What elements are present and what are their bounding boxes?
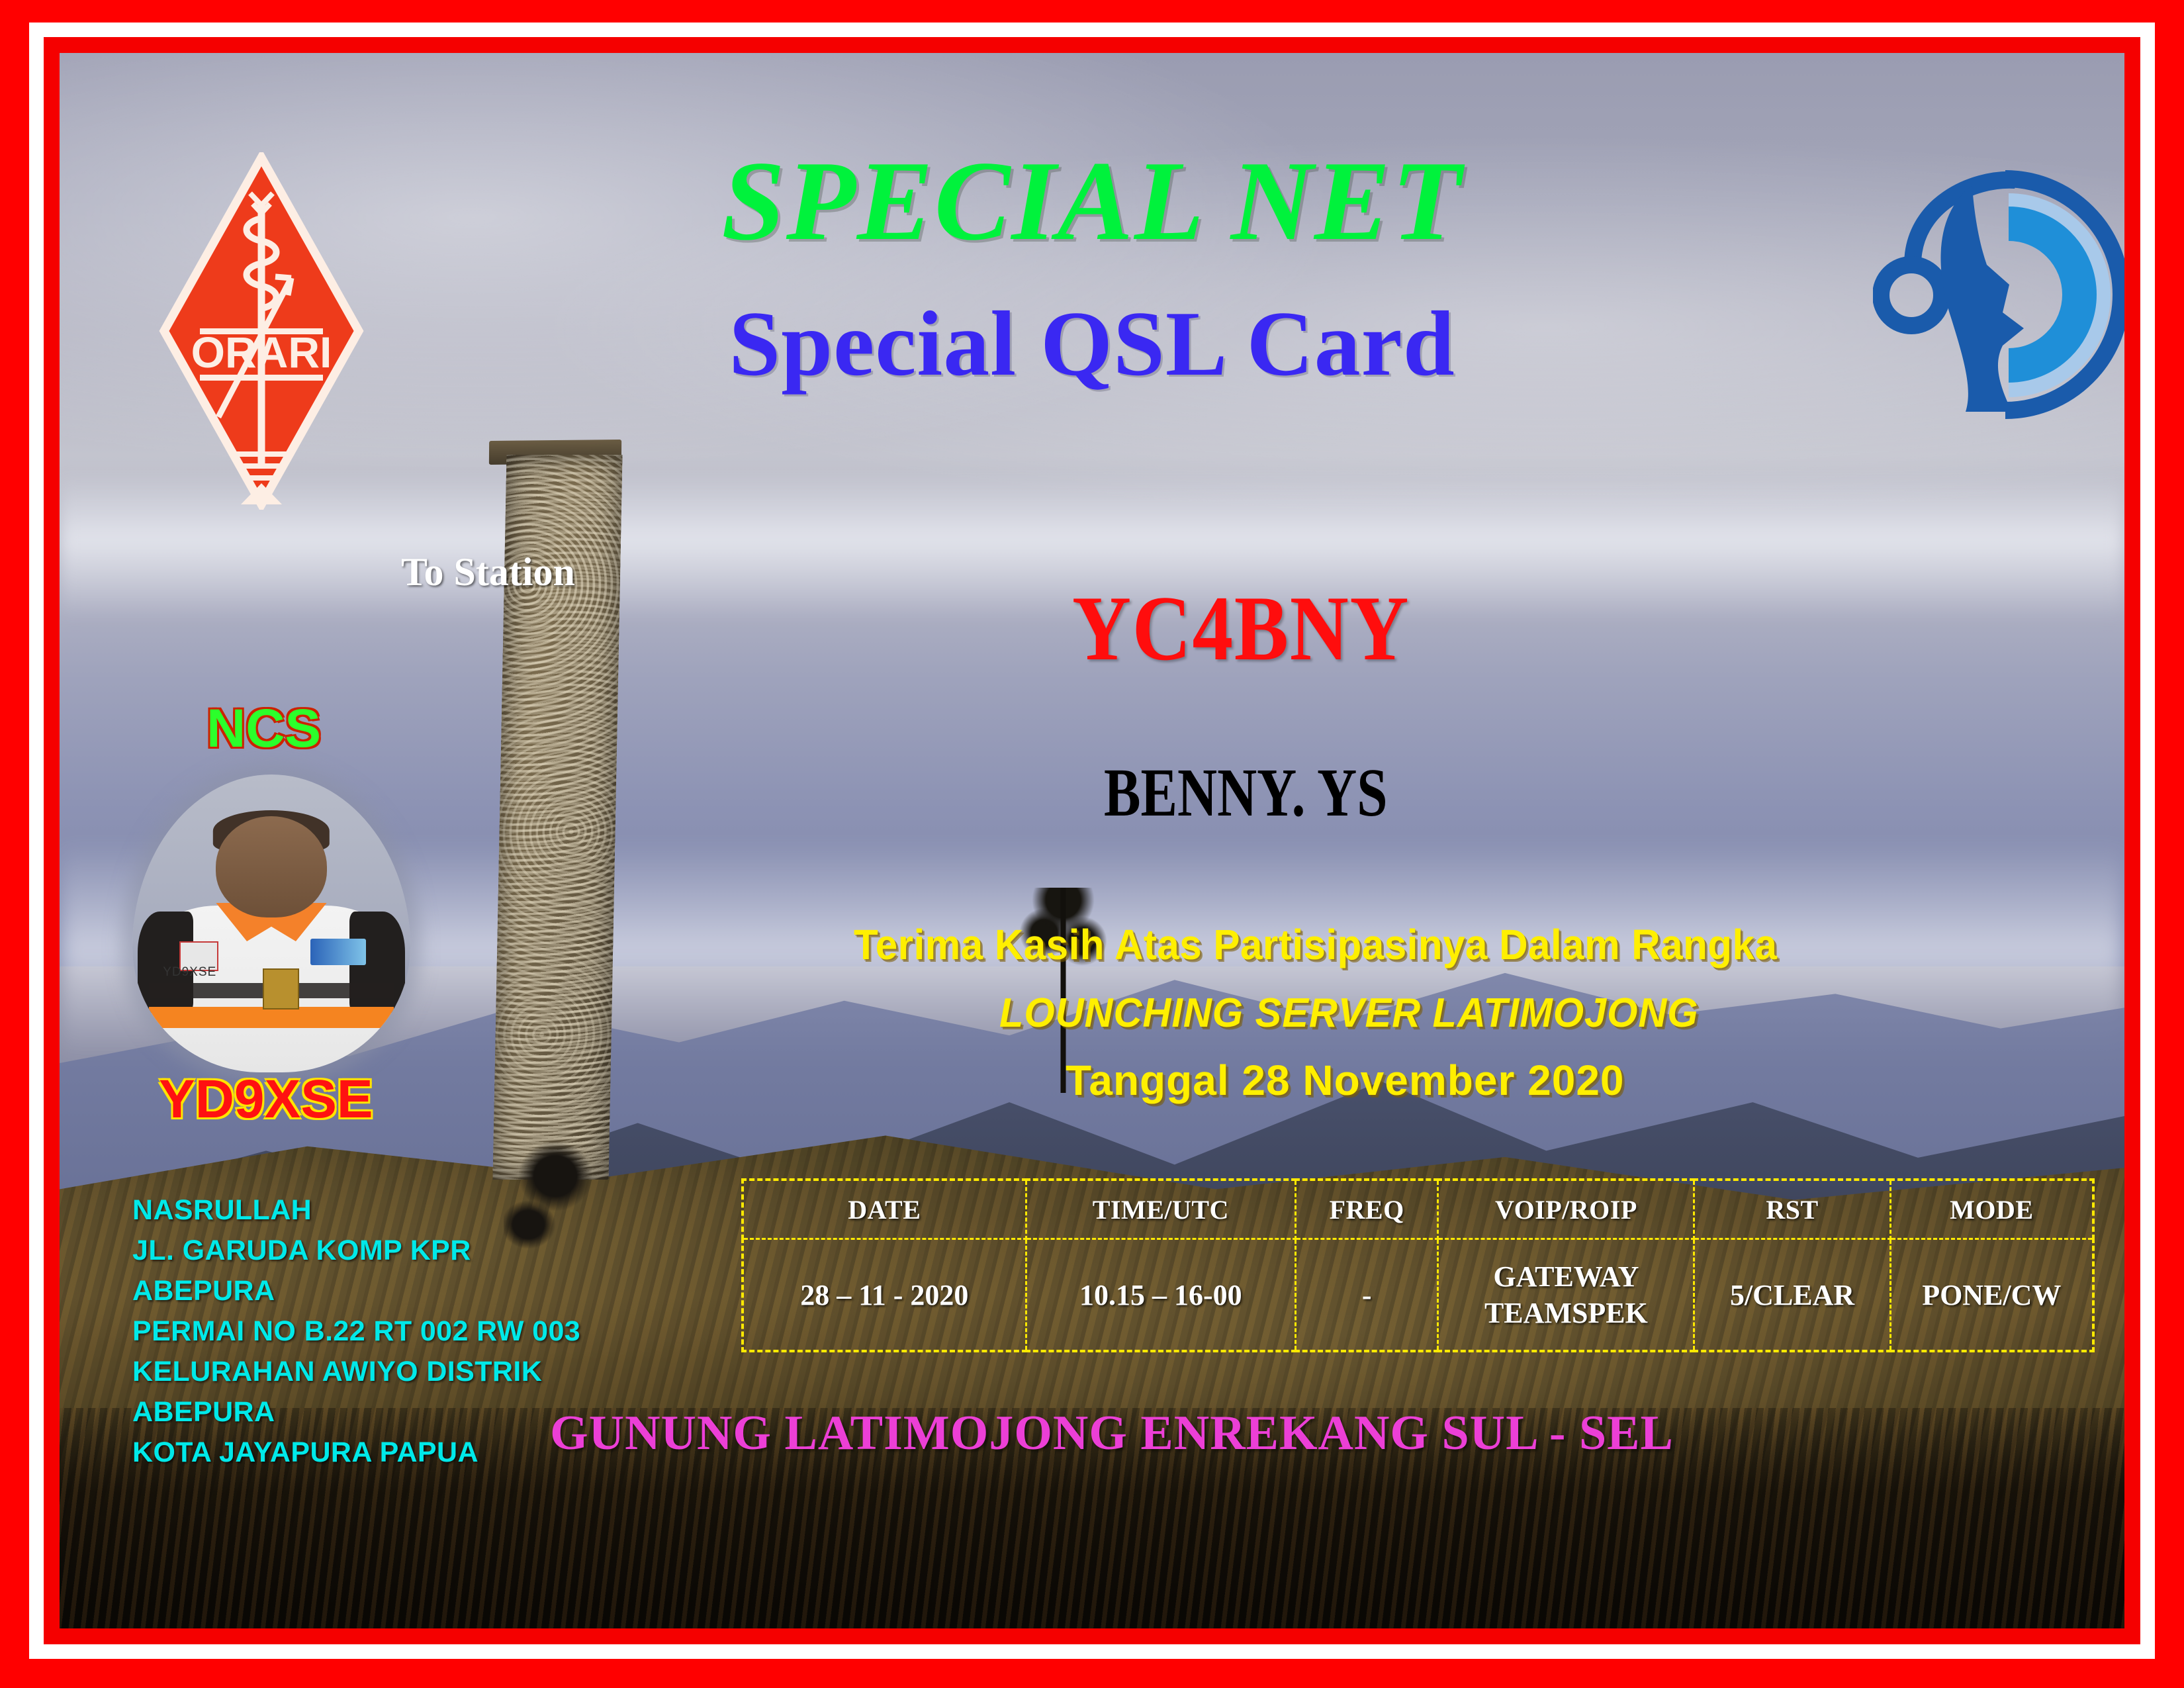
table-row: 28 – 11 - 2020 10.15 – 16-00 - GATEWAY T… [743,1239,2093,1352]
operator-name: BENNY. YS [1104,759,1387,827]
location-line: GUNUNG LATIMOJONG ENREKANG SUL - SEL [60,1409,2124,1458]
cell-freq: - [1296,1239,1438,1352]
ncs-operator-photo: YD9XSE [132,774,410,1072]
cell-date: 28 – 11 - 2020 [743,1239,1026,1352]
photo-uniform-belt [149,1007,394,1028]
cell-voip-line1: GATEWAY [1439,1258,1693,1295]
column-header-mode: MODE [1890,1180,2093,1239]
page-title: SPECIAL NET [60,144,2124,258]
ncs-callsign: YD9XSE [159,1072,373,1127]
card-red-inner-frame: ORARI SPECIAL NET Special Q [44,37,2140,1644]
column-header-rst: RST [1694,1180,1890,1239]
column-header-date: DATE [743,1180,1026,1239]
to-station-label: To Station [401,552,575,592]
ncs-label: NCS [206,702,321,756]
card-photo-area: ORARI SPECIAL NET Special Q [60,53,2124,1628]
station-callsign: YC4BNY [1072,583,1410,675]
cell-rst: 5/CLEAR [1694,1239,1890,1352]
photo-uniform-logo [310,939,366,966]
cell-time: 10.15 – 16-00 [1026,1239,1295,1352]
photo-id-tag [263,968,298,1010]
cell-mode: PONE/CW [1890,1239,2093,1352]
photo-face [216,816,327,917]
event-line: LOUNCHING SERVER LATIMOJONG [999,993,1699,1034]
photo-uniform-callsign: YD9XSE [163,965,216,980]
column-header-time: TIME/UTC [1026,1180,1295,1239]
card-white-frame: ORARI SPECIAL NET Special Q [29,23,2155,1659]
address-line: JL. GARUDA KOMP KPR [132,1231,580,1271]
cell-voip-line2: TEAMSPEK [1439,1295,1693,1331]
event-date-line: Tanggal 28 November 2020 [1066,1059,1625,1102]
address-line: NASRULLAH [132,1190,580,1231]
column-header-freq: FREQ [1296,1180,1438,1239]
address-line: KELURAHAN AWIYO DISTRIK [132,1352,580,1392]
column-header-voip: VOIP/ROIP [1438,1180,1694,1239]
thanks-line: Terima Kasih Atas Partisipasinya Dalam R… [854,923,1777,966]
qso-details-table: DATE TIME/UTC FREQ VOIP/ROIP RST MODE 28… [741,1178,2095,1352]
address-line: ABEPURA [132,1271,580,1311]
table-header-row: DATE TIME/UTC FREQ VOIP/ROIP RST MODE [743,1180,2093,1239]
qsl-card: ORARI SPECIAL NET Special Q [0,0,2184,1688]
address-line: PERMAI NO B.22 RT 002 RW 003 [132,1311,580,1352]
page-subtitle: Special QSL Card [60,298,2124,391]
cell-voip-roip: GATEWAY TEAMSPEK [1438,1239,1694,1352]
